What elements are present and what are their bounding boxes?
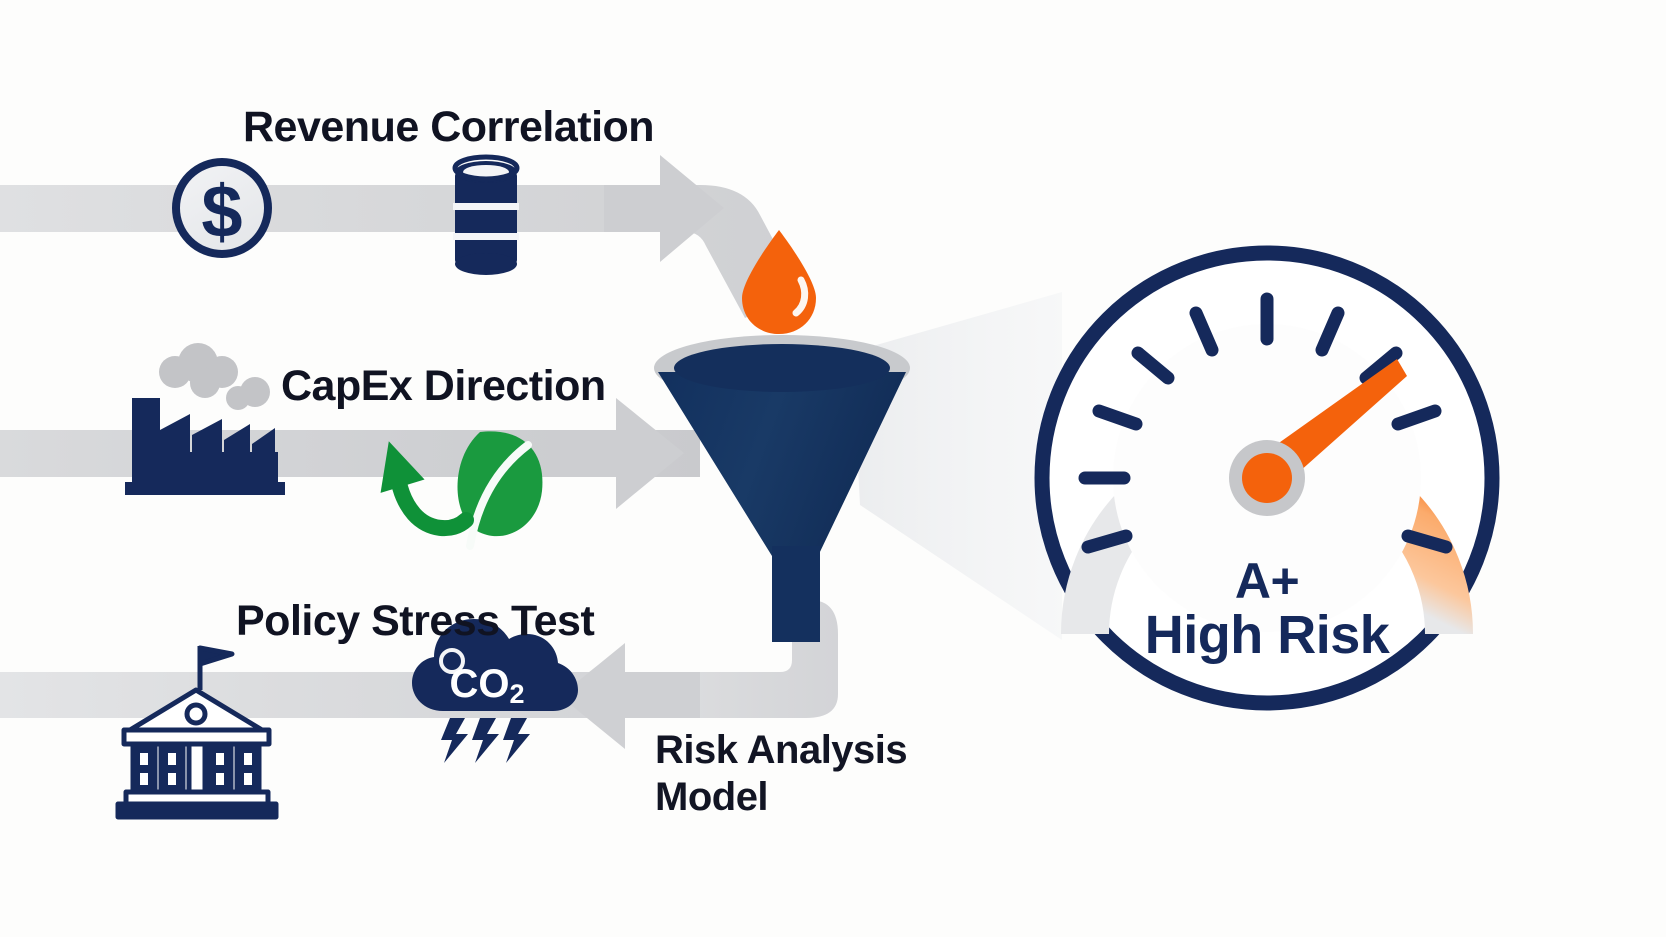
diagram-root: $	[0, 0, 1666, 937]
processor-label-line1: Risk Analysis	[655, 727, 925, 774]
government-building-icon	[118, 646, 276, 817]
leaf-icon	[458, 431, 543, 546]
projection-beam	[852, 292, 1062, 640]
oil-barrel-icon	[453, 157, 519, 275]
lightning-bolts-icon	[441, 718, 530, 763]
processor-label-line2: Model	[655, 774, 925, 821]
gauge-status-label: High Risk	[1057, 604, 1477, 666]
input-label-policy: Policy Stress Test	[236, 597, 594, 646]
factory-icon	[125, 343, 285, 495]
gauge-grade-label: A+	[1057, 552, 1477, 610]
processor-label: Risk Analysis Model	[655, 727, 925, 821]
arrowhead-capex	[560, 398, 684, 509]
input-label-revenue: Revenue Correlation	[243, 103, 654, 152]
flow-band-revenue	[0, 155, 800, 318]
svg-text:$: $	[201, 170, 242, 253]
dollar-circle-icon: $	[176, 162, 268, 254]
input-label-capex: CapEx Direction	[281, 362, 606, 411]
smoke-icon	[159, 343, 270, 410]
flow-band-capex	[0, 398, 700, 509]
